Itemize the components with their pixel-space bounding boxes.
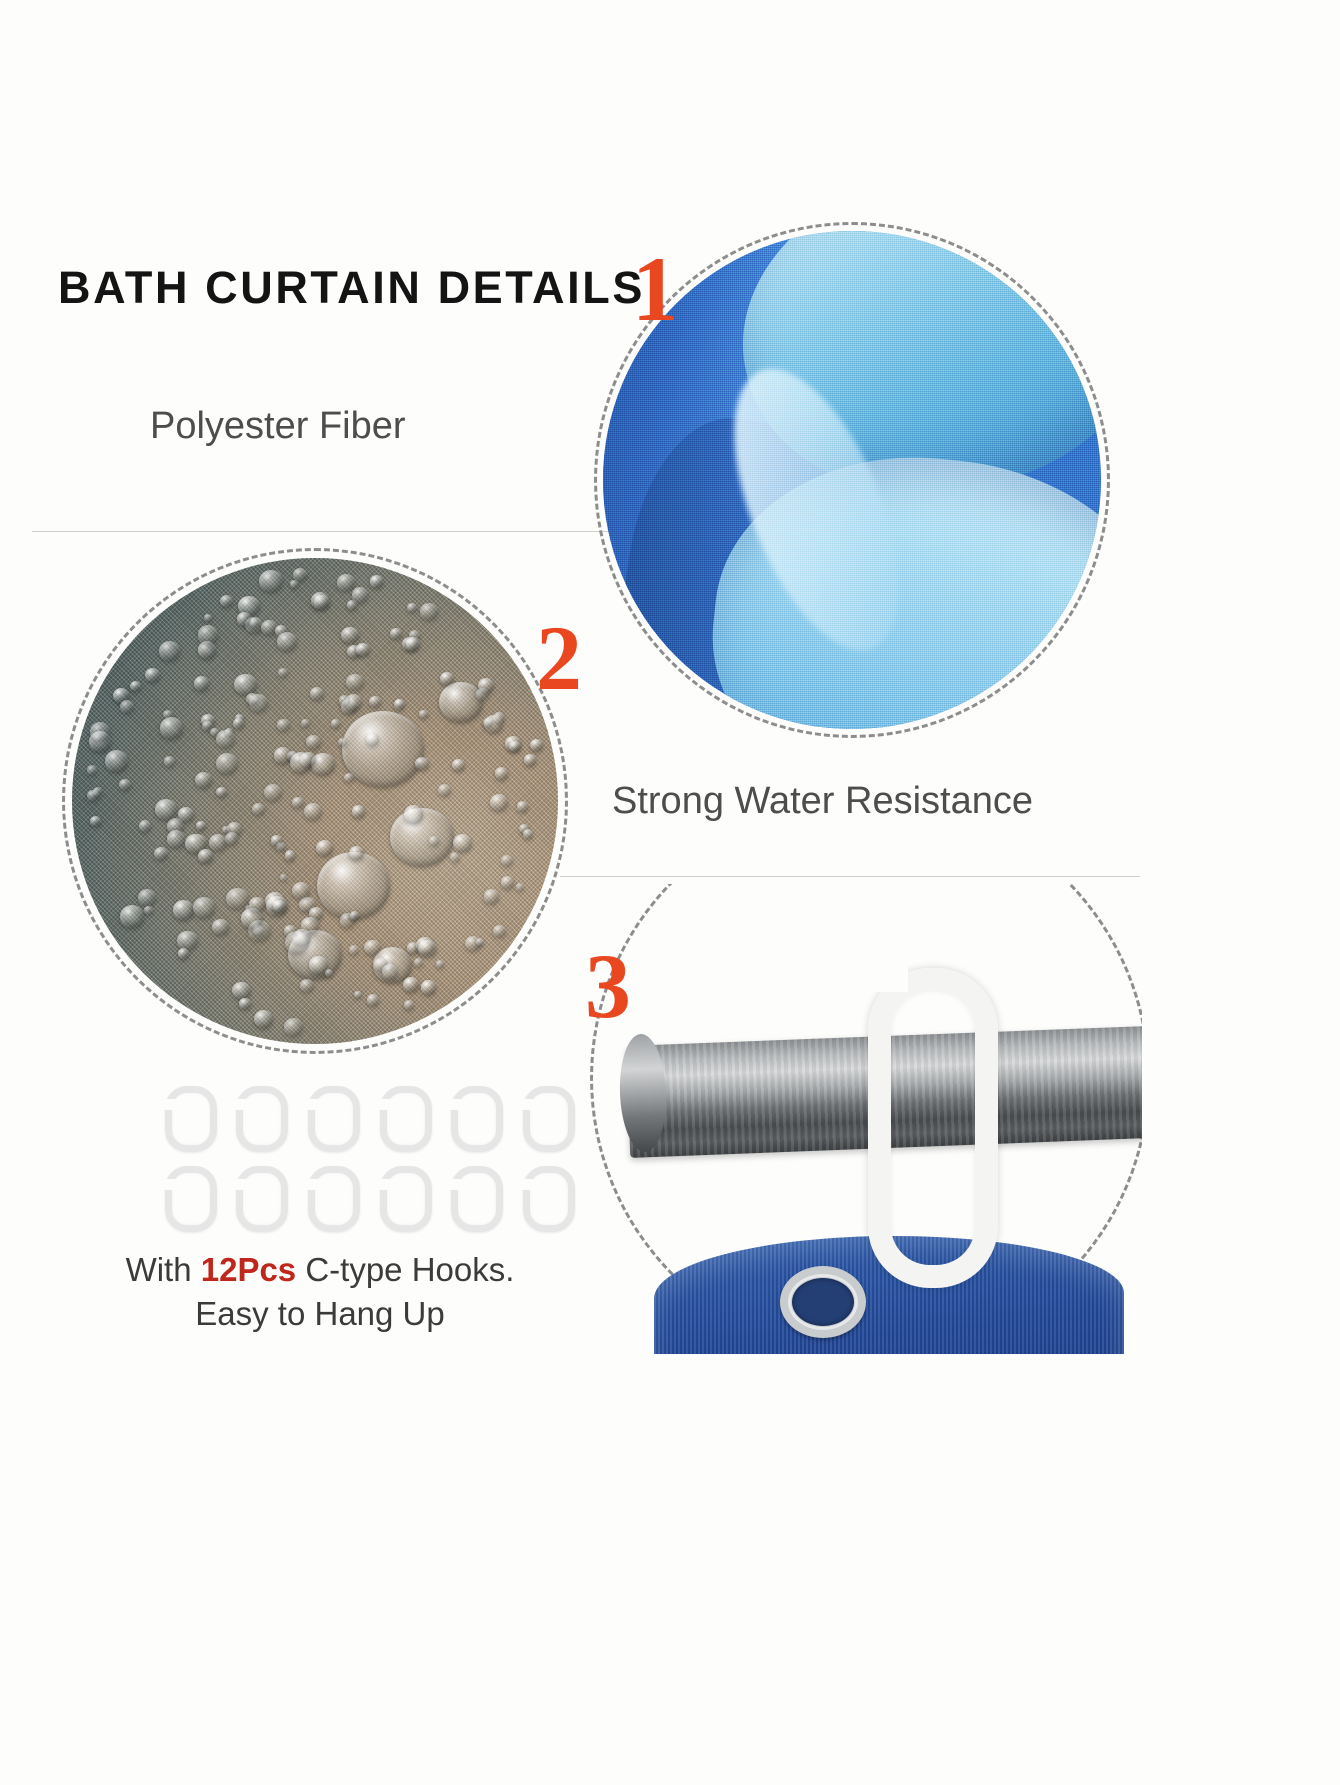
hooks-caption-prefix: With [126,1251,201,1288]
hook-ring-shape [308,1086,360,1152]
c-type-hook [523,1086,575,1152]
hook-gap-shape [163,1099,175,1110]
hook-ring-shape [523,1166,575,1232]
water-droplet [523,829,534,839]
water-droplet [356,643,370,656]
c-type-hook [236,1086,288,1152]
water-droplet [290,580,299,588]
feature-label-strong-water-resistance: Strong Water Resistance [612,780,1033,823]
c-type-hook [308,1086,360,1152]
water-droplet [421,980,436,994]
water-droplet [178,807,194,822]
hook-ring-shape [308,1166,360,1232]
c-type-hook [451,1086,503,1152]
c-type-hook [451,1166,503,1232]
water-droplet [196,821,206,830]
water-droplet [419,710,427,718]
water-droplet [216,753,239,774]
water-droplet [120,905,144,928]
water-droplet [301,719,310,728]
water-droplet [394,699,405,710]
water-droplet [349,846,364,860]
water-droplet [198,625,218,644]
water-droplet [509,741,521,752]
water-droplet [407,942,420,954]
water-droplet [130,681,141,691]
water-droplet [367,994,379,1006]
feature-number-marker-3: 3 [585,940,631,1032]
c-type-hook [523,1166,575,1232]
water-droplet [501,855,513,867]
water-droplet [212,919,228,934]
hook-gap-shape [234,1099,246,1110]
water-droplet [406,637,421,651]
water-droplet [524,754,536,765]
water-droplet [501,876,514,889]
water-droplet [483,718,493,727]
hook-ring-shape [165,1086,217,1152]
water-droplet [346,674,364,691]
water-droplet [495,767,508,780]
water-droplet [159,641,181,661]
water-droplet [517,801,528,812]
water-droplet [404,805,423,823]
c-type-hook [380,1166,432,1232]
water-droplet [354,991,362,999]
water-droplet [476,938,484,946]
water-droplet [344,773,354,782]
feature-number-marker-2: 2 [536,612,582,704]
hook-ring-shape [523,1086,575,1152]
hook-gap-shape [449,1099,461,1110]
water-droplet [220,595,233,607]
water-droplet [209,834,227,851]
water-droplet [316,840,333,856]
water-droplet [366,733,380,746]
water-droplet [216,787,227,797]
water-droplet [530,739,543,752]
water-droplet [105,750,128,772]
section-divider-top [32,531,612,532]
water-droplet [285,931,309,953]
section-divider-bottom [560,876,1140,877]
water-droplet [516,883,524,890]
water-droplet [194,676,209,690]
water-droplet [414,958,423,966]
hook-ring-shape [451,1086,503,1152]
water-droplet [403,977,419,992]
water-droplet [254,1010,273,1028]
hook-ring-shape [451,1166,503,1232]
hooks-caption-suffix: C-type Hooks. [296,1251,514,1288]
water-droplet [144,906,153,915]
water-droplet [264,784,282,801]
water-droplet [285,850,296,860]
water-droplet [290,752,313,773]
water-droplet [382,964,398,979]
water-droplet [204,614,212,621]
water-droplet [293,568,307,581]
c-type-hook-opening [864,960,908,992]
water-droplet [252,803,265,816]
c-type-hooks-grid [160,1086,580,1232]
water-droplet [490,794,508,811]
feature-number-marker-1: 1 [632,243,678,335]
water-droplet [233,718,244,728]
water-droplet [349,945,359,954]
hook-ring-shape [236,1166,288,1232]
water-droplet [277,719,289,730]
infographic-canvas: BATH CURTAIN DETAILS Polyester Fiber 1 2… [0,0,1340,1785]
hooks-caption: With 12Pcs C-type Hooks. Easy to Hang Up [60,1248,580,1335]
water-droplet [452,759,465,771]
water-droplet [277,632,297,651]
water-droplet [342,711,425,787]
water-droplet [246,693,259,705]
water-droplet [300,979,314,993]
feature-3-image-shower-rod-with-hook-photo [568,884,1142,1354]
water-droplet [138,889,156,906]
c-type-hook [380,1086,432,1152]
water-droplet [278,668,288,678]
hook-gap-shape [521,1099,533,1110]
water-droplet [407,603,416,612]
c-type-hook [236,1166,288,1232]
water-droplet [339,695,350,706]
water-droplet [87,790,99,801]
water-droplet [415,757,429,770]
hook-gap-shape [163,1179,175,1190]
water-droplet [352,587,369,603]
water-droplet [167,830,186,848]
feature-label-polyester-fiber: Polyester Fiber [150,405,406,448]
water-droplet [259,570,283,593]
water-droplet [404,1000,415,1010]
hook-gap-shape [234,1179,246,1190]
water-droplet [239,998,251,1009]
water-droplet [440,672,454,685]
hook-gap-shape [306,1099,318,1110]
hook-ring-shape [380,1166,432,1232]
water-droplet [438,784,451,796]
hook-gap-shape [378,1099,390,1110]
water-droplet [90,722,110,741]
water-droplet [232,982,251,1000]
water-droplet [304,803,322,820]
water-droplet [202,721,213,731]
c-type-hook [165,1086,217,1152]
water-droplet [292,797,304,808]
water-droplet [352,805,365,818]
water-droplet [306,735,320,748]
water-droplet [90,816,101,826]
c-type-hook-ring [868,968,998,1288]
water-droplet [173,900,195,920]
water-droplet [317,852,390,919]
hooks-caption-line-2: Easy to Hang Up [60,1292,580,1336]
water-droplet [439,682,483,722]
water-droplet [420,603,438,620]
water-droplet [484,889,500,904]
water-droplet [120,700,134,713]
water-droplet [310,687,324,700]
water-droplet [338,738,346,746]
water-droplet [418,940,436,957]
water-droplet [370,575,383,587]
water-droplet [453,834,472,852]
water-droplet [154,847,168,860]
water-droplet [309,956,327,973]
water-droplet [145,668,160,682]
hook-gap-shape [521,1179,533,1190]
hook-ring-shape [380,1086,432,1152]
water-droplet [222,826,230,834]
hooks-caption-line-1: With 12Pcs C-type Hooks. [60,1248,580,1292]
water-droplet [160,717,183,739]
water-droplet [198,849,214,864]
water-droplet [274,747,292,764]
water-droplet [119,779,131,790]
hook-gap-shape [449,1179,461,1190]
water-droplet [450,852,460,861]
page-title: BATH CURTAIN DETAILS [58,262,645,314]
water-droplet [390,628,401,639]
water-droplet [280,874,288,881]
hook-gap-shape [378,1179,390,1190]
water-droplet [216,730,235,748]
c-type-hook [165,1166,217,1232]
water-droplet [493,925,506,937]
water-droplet [284,1018,303,1036]
water-droplet [478,678,494,693]
water-droplet [164,756,175,767]
hook-ring-shape [236,1086,288,1152]
water-droplet [195,772,212,788]
water-droplet [237,612,252,626]
water-droplet [87,765,97,774]
water-droplet [178,948,190,959]
water-droplet [369,696,381,707]
hook-gap-shape [306,1179,318,1190]
water-droplet [436,960,444,968]
water-droplet [155,799,178,820]
water-droplet [364,940,380,955]
water-droplet [337,574,355,591]
water-droplet [341,627,359,644]
water-droplet [249,897,264,911]
hook-ring-shape [165,1166,217,1232]
water-droplet [350,911,359,920]
hooks-count-highlight: 12Pcs [201,1251,296,1288]
c-type-hook [308,1166,360,1232]
water-droplet [139,820,152,832]
feature-2-image-water-droplets-photo [62,548,568,1054]
water-droplet [331,719,340,728]
curtain-grommet [780,1266,866,1338]
water-droplet [193,897,215,918]
